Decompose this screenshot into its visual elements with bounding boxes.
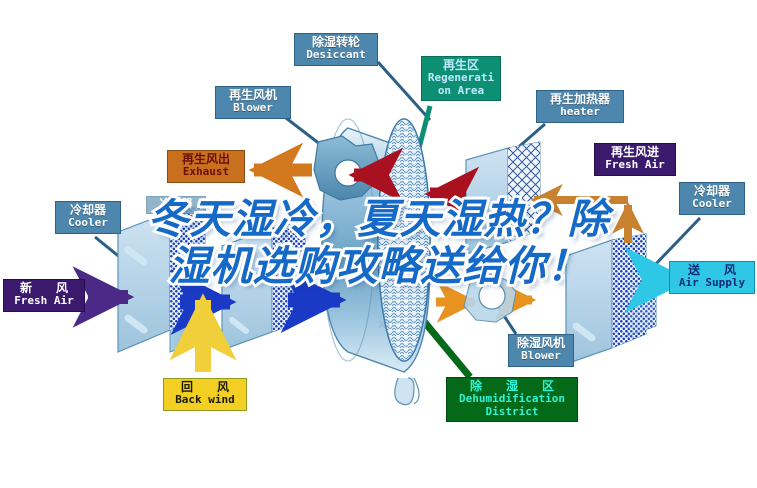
label-cooler-left[interactable]: 冷却器 Cooler — [55, 201, 121, 234]
label-regeneration-area-cn: 再生区 — [427, 59, 495, 72]
label-regeneration-exhaust-out-cn: 再生风出 — [173, 153, 239, 166]
label-cooler-left-en: Cooler — [61, 217, 115, 229]
label-dehumidification-blower-en: Blower — [514, 350, 568, 362]
label-desiccant-wheel-en: Desiccant — [300, 49, 372, 61]
label-regeneration-blower-cn: 再生风机 — [221, 89, 285, 102]
label-dehumidification-district-en2: District — [452, 406, 572, 418]
label-dehumidification-district[interactable]: 除 湿 区 Dehumidification District — [446, 377, 578, 422]
label-back-wind-return[interactable]: 回 风 Back wind — [163, 378, 247, 411]
cooler-coil-mid — [222, 222, 305, 350]
label-dehumidification-district-en1: Dehumidification — [452, 393, 572, 405]
label-cooler-left-cn: 冷却器 — [61, 204, 115, 217]
label-air-supply-out[interactable]: 送 风 Air Supply — [669, 261, 755, 294]
label-desiccant-wheel[interactable]: 除湿转轮 Desiccant — [294, 33, 378, 66]
dehumidifier-diagram-image: XT — [0, 0, 757, 488]
label-fresh-air-in[interactable]: 新 风 Fresh Air — [3, 279, 85, 312]
dehumidification-blower-fan — [464, 274, 516, 322]
svg-text:XT: XT — [378, 319, 392, 331]
label-cooler-mid[interactable]: 冷却器 — [146, 196, 206, 214]
cooler-right-coil — [628, 280, 656, 336]
regeneration-blower-fan — [314, 136, 378, 200]
label-air-supply-out-en: Air Supply — [675, 277, 749, 289]
label-dehumidification-district-cn: 除 湿 区 — [452, 380, 572, 393]
label-cooler-right[interactable]: 冷却器 Cooler — [679, 182, 745, 215]
label-regeneration-heater[interactable]: 再生加热器 heater — [536, 90, 624, 123]
desiccant-rotor-schematic: XT — [0, 0, 757, 488]
label-regeneration-heater-cn: 再生加热器 — [542, 93, 618, 106]
label-cooler-mid-cn: 冷却器 — [152, 198, 200, 210]
label-back-wind-return-cn: 回 风 — [169, 381, 241, 394]
regeneration-heater-coil — [466, 142, 540, 254]
label-air-supply-out-cn: 送 风 — [675, 264, 749, 277]
label-regeneration-blower-en: Blower — [221, 102, 285, 114]
label-regeneration-fresh-air-in-cn: 再生风进 — [600, 146, 670, 159]
label-back-wind-return-en: Back wind — [169, 394, 241, 406]
cooler-coil-left — [118, 206, 205, 352]
label-fresh-air-in-en: Fresh Air — [9, 295, 79, 307]
label-regeneration-area-en2: on Area — [427, 85, 495, 97]
label-dehumidification-blower-cn: 除湿风机 — [514, 337, 568, 350]
label-cooler-right-en: Cooler — [685, 198, 739, 210]
label-dehumidification-blower[interactable]: 除湿风机 Blower — [508, 334, 574, 367]
label-regeneration-fresh-air-in[interactable]: 再生风进 Fresh Air — [594, 143, 676, 176]
label-regeneration-exhaust-out-en: Exhaust — [173, 166, 239, 178]
label-regeneration-area[interactable]: 再生区 Regenerati on Area — [421, 56, 501, 101]
label-cooler-right-cn: 冷却器 — [685, 185, 739, 198]
label-regeneration-heater-en: heater — [542, 106, 618, 118]
label-regeneration-area-en1: Regenerati — [427, 72, 495, 84]
label-regeneration-fresh-air-in-en: Fresh Air — [600, 159, 670, 171]
label-regeneration-blower[interactable]: 再生风机 Blower — [215, 86, 291, 119]
label-fresh-air-in-cn: 新 风 — [9, 282, 79, 295]
label-regeneration-exhaust-out[interactable]: 再生风出 Exhaust — [167, 150, 245, 183]
label-desiccant-wheel-cn: 除湿转轮 — [300, 36, 372, 49]
